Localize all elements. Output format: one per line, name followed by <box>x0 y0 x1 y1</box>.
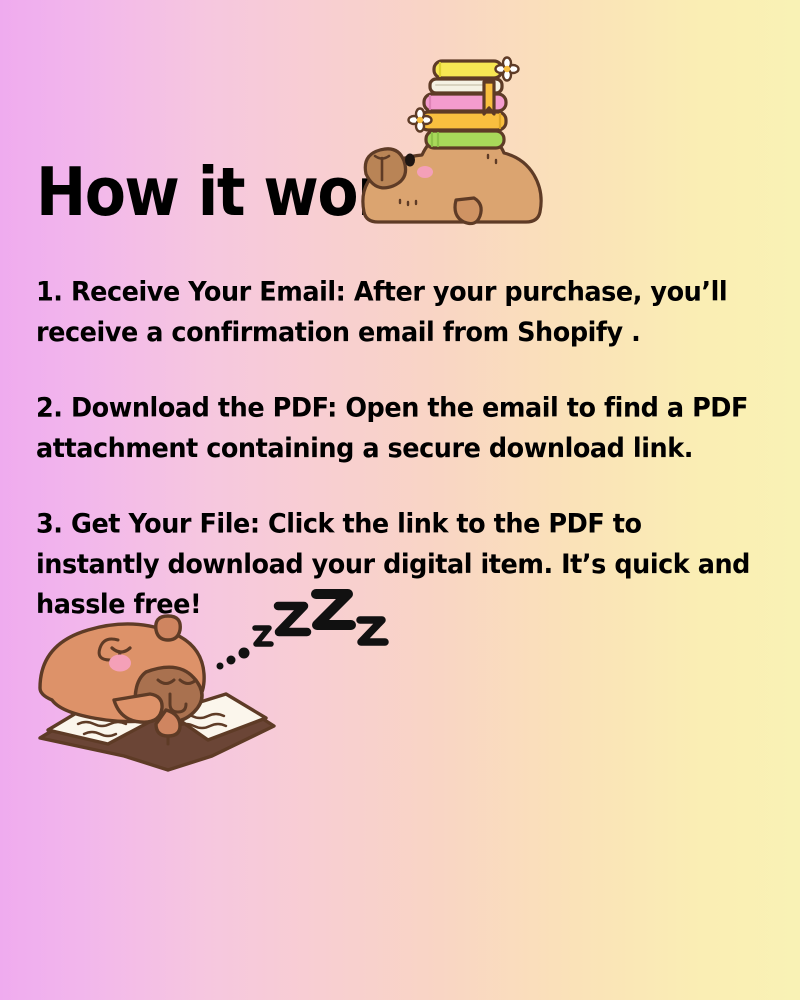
capybara-eye <box>405 154 415 167</box>
book-top-yellow <box>434 61 502 78</box>
zzz-glyph-3 <box>316 594 351 625</box>
zzz-dot-2 <box>227 656 236 665</box>
zzz-dot-1 <box>217 663 224 670</box>
zzz-sleep-marks <box>212 588 412 683</box>
step-item-1: 1. Receive Your Email: After your purcha… <box>36 272 766 353</box>
zzz-dot-3 <box>239 648 250 659</box>
poster-canvas: How it works <box>0 0 800 1000</box>
sleeping-capybara-ear <box>156 616 181 640</box>
steps-list: 1. Receive Your Email: After your purcha… <box>36 272 766 618</box>
capybara-muzzle <box>365 149 405 188</box>
zzz-glyph-1 <box>255 628 271 644</box>
step-item-2: 2. Download the PDF: Open the email to f… <box>36 388 766 469</box>
zzz-glyph-2 <box>278 606 307 632</box>
sleeping-capybara-cheek <box>109 655 131 672</box>
bookmark-ribbon <box>484 82 494 114</box>
capybara-with-book-stack-illustration <box>352 52 552 237</box>
book-bottom-green <box>426 131 504 148</box>
capybara-front-leg <box>455 198 481 224</box>
capybara-cheek <box>417 166 433 178</box>
zzz-glyph-4 <box>360 620 385 642</box>
